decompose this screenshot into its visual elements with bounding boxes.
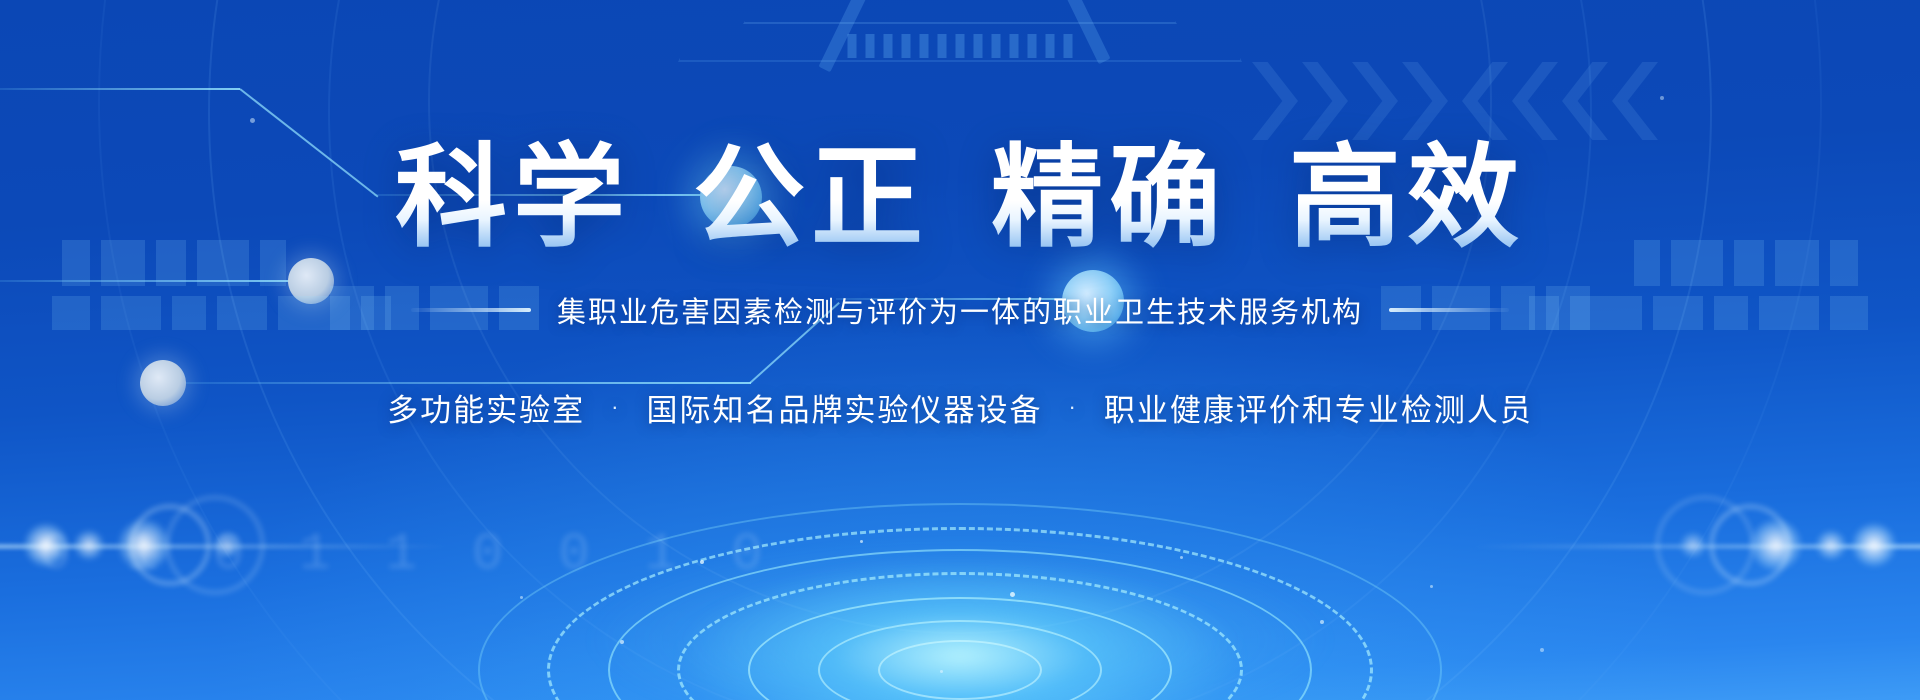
tagline-item-1: 多功能实验室: [387, 385, 585, 430]
subtitle-rule-left: [411, 308, 531, 312]
headline-word-4: 高效: [1289, 138, 1525, 259]
headline-word-1: 科学: [395, 138, 631, 259]
tagline-separator-1: ·: [611, 394, 620, 420]
tagline-item-3: 职业健康评价和专业检测人员: [1104, 385, 1533, 430]
banner-content: 科学 公正 精确 高效 集职业危害因素检测与评价为一体的职业卫生技术服务机构 多…: [0, 0, 1920, 700]
headline: 科学 公正 精确 高效: [395, 138, 1525, 259]
tagline-item-2: 国际知名品牌实验仪器设备: [647, 385, 1043, 430]
banner-hero: 0 1 0 1 1 0 0 1 0 1 1 0 1 0 0 1 1 0: [0, 0, 1920, 700]
subtitle-row: 集职业危害因素检测与评价为一体的职业卫生技术服务机构: [411, 289, 1509, 331]
tagline-row: 多功能实验室 · 国际知名品牌实验仪器设备 · 职业健康评价和专业检测人员: [387, 385, 1533, 430]
tagline-separator-2: ·: [1069, 394, 1078, 420]
headline-word-3: 精确: [991, 138, 1227, 259]
headline-word-2: 公正: [693, 138, 929, 259]
subtitle-text: 集职业危害因素检测与评价为一体的职业卫生技术服务机构: [557, 289, 1363, 331]
subtitle-rule-right: [1389, 308, 1509, 312]
